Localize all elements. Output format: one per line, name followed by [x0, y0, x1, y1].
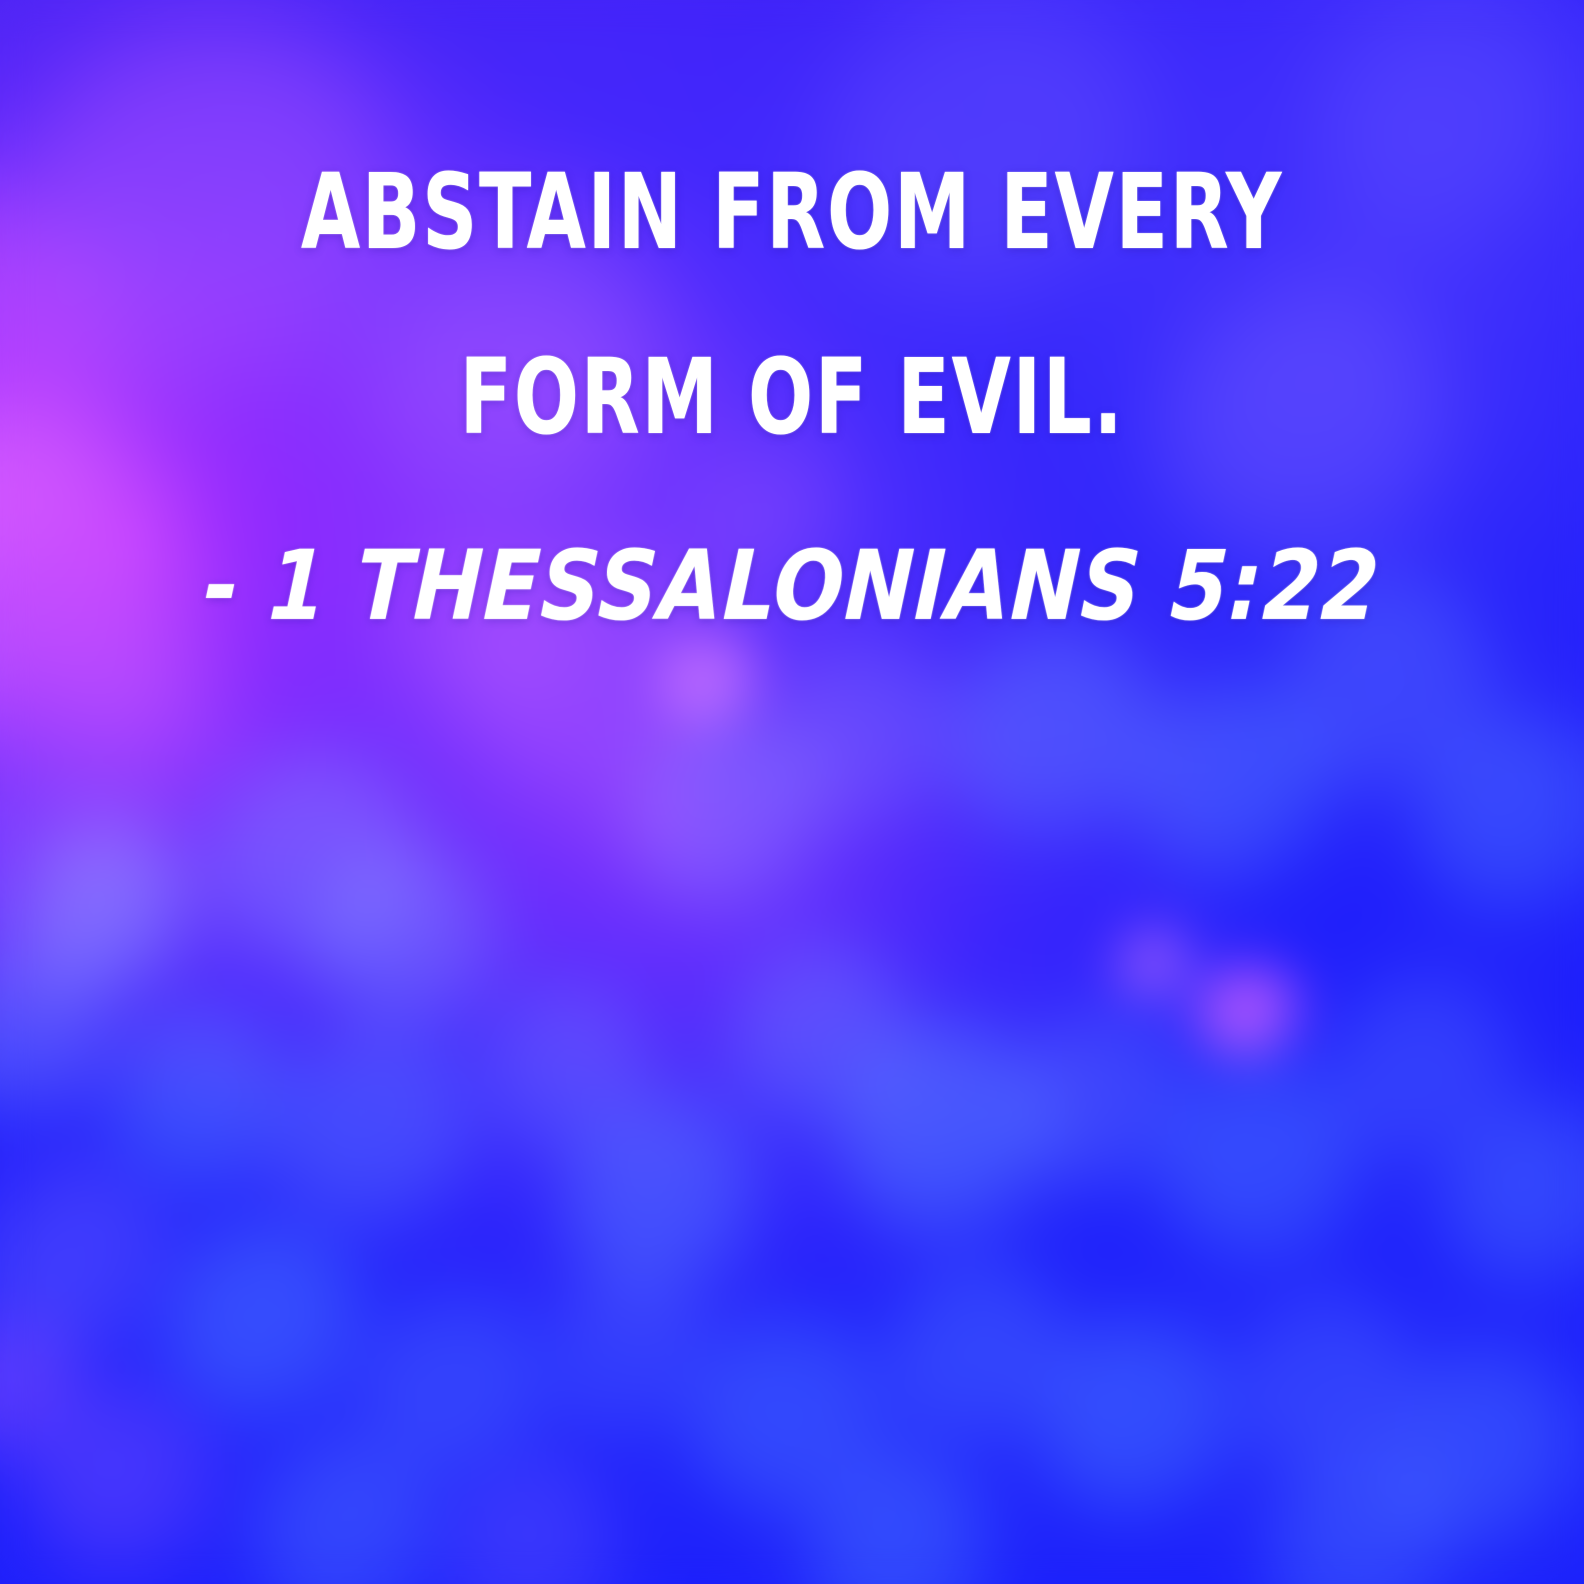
bokeh-orb	[840, 1022, 1062, 1260]
bokeh-orb	[1014, 1006, 1204, 1212]
bokeh-orb	[277, 1030, 483, 1252]
bokeh-orb	[1267, 1449, 1457, 1584]
bokeh-orb	[729, 942, 919, 1148]
bokeh-orb	[626, 713, 832, 935]
bokeh-orb	[1418, 713, 1584, 935]
bokeh-orb	[483, 982, 657, 1172]
bokeh-orb	[1038, 1315, 1244, 1537]
bokeh-orb	[776, 642, 966, 848]
bokeh-orb	[546, 1267, 720, 1457]
verse-line-2: FORM OF EVIL.	[143, 345, 1442, 449]
bokeh-orb	[657, 634, 768, 729]
bokeh-orb	[887, 1259, 1077, 1465]
bokeh-orb	[808, 1449, 998, 1584]
verse-line-1: ABSTAIN FROM EVERY	[143, 160, 1442, 264]
bokeh-orb	[562, 1093, 768, 1315]
bokeh-orb	[0, 760, 190, 1013]
bokeh-orb	[253, 1434, 443, 1584]
bokeh-orb	[32, 1386, 222, 1584]
verse-image-canvas: ABSTAIN FROM EVERY FORM OF EVIL. - 1 THE…	[0, 0, 1584, 1584]
bokeh-orb	[1331, 974, 1521, 1180]
bokeh-orb	[206, 752, 428, 990]
bokeh-orb	[364, 1291, 554, 1497]
bokeh-orb	[950, 626, 1172, 864]
bokeh-orb	[24, 824, 198, 1014]
bokeh-orb	[1386, 1346, 1584, 1568]
bokeh-orb	[1196, 966, 1307, 1061]
bokeh-orb	[451, 1457, 625, 1584]
bokeh-orb	[111, 1006, 301, 1212]
bokeh-orb	[0, 950, 119, 1140]
bokeh-orb	[1117, 927, 1196, 1006]
bokeh-orb	[0, 1164, 174, 1370]
bokeh-orb	[1133, 681, 1339, 903]
bokeh-orb	[79, 642, 237, 816]
bokeh-orb	[1236, 1291, 1426, 1497]
bokeh-orb	[317, 847, 507, 1053]
bokeh-orb	[166, 1220, 372, 1442]
bokeh-orb	[0, 1315, 87, 1473]
verse-reference: - 1 THESSALONIANS 5:22	[109, 538, 1476, 634]
bokeh-orb	[1441, 1101, 1584, 1307]
bokeh-orb	[689, 1315, 895, 1537]
bokeh-orb	[1164, 1061, 1370, 1283]
